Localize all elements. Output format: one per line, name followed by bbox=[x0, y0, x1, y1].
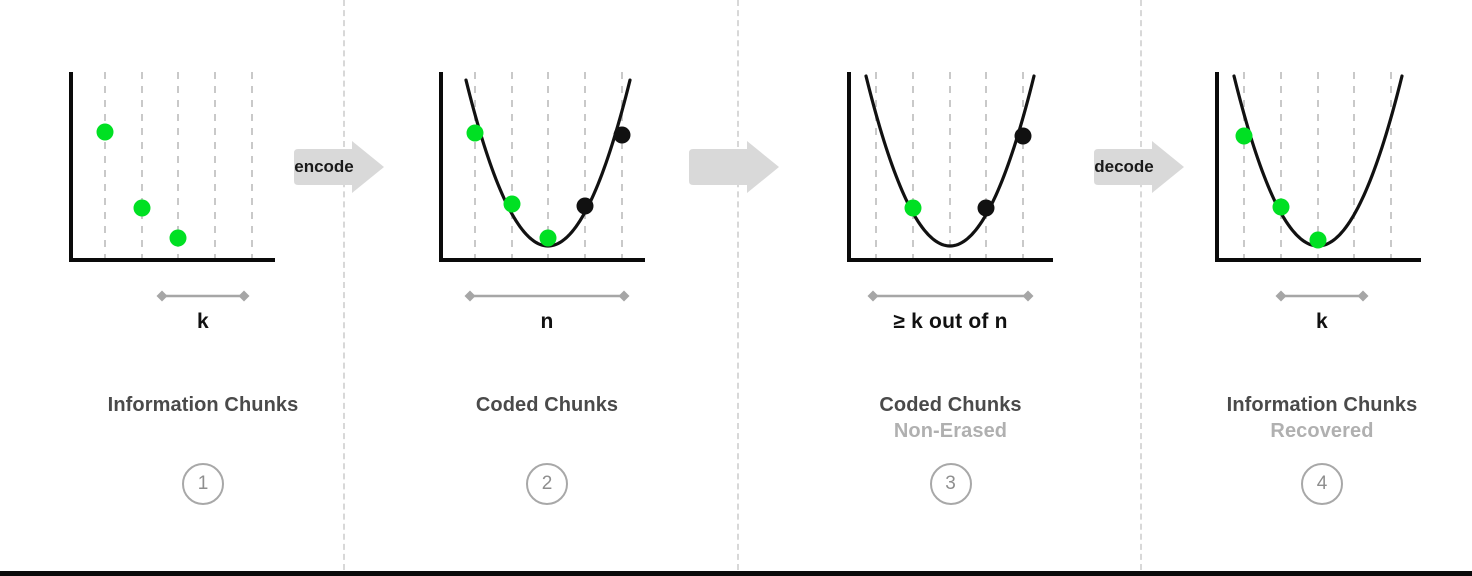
data-point-green bbox=[540, 230, 557, 247]
panel-2: nCoded Chunks2 bbox=[400, 0, 740, 570]
span-endpoint-left bbox=[157, 291, 168, 302]
bottom-rule bbox=[0, 571, 1472, 576]
panel-3-caption-secondary: Non-Erased bbox=[781, 418, 1121, 444]
panel-3-step-badge: 3 bbox=[930, 463, 972, 505]
panel-2-step-badge: 2 bbox=[526, 463, 568, 505]
panel-4-span-measure bbox=[1170, 286, 1472, 306]
panel-2-caption: Coded Chunks bbox=[377, 392, 717, 418]
panel-3-span-label: ≥ k out of n bbox=[781, 310, 1121, 334]
data-point-black bbox=[1015, 128, 1032, 145]
panel-1-caption-primary: Information Chunks bbox=[33, 392, 373, 418]
data-point-green bbox=[1273, 199, 1290, 216]
data-point-green bbox=[170, 230, 187, 247]
panel-4-plot bbox=[1208, 68, 1423, 268]
data-point-black bbox=[978, 200, 995, 217]
panel-3-plot bbox=[840, 68, 1055, 268]
arrow-middle-label bbox=[685, 141, 753, 193]
panel-2-span-measure bbox=[400, 286, 740, 306]
arrow-middle[interactable] bbox=[685, 141, 781, 193]
panel-1-span-label: k bbox=[33, 310, 373, 334]
panel-4-caption: Information ChunksRecovered bbox=[1152, 392, 1472, 445]
diagram-canvas: kInformation Chunks1nCoded Chunks2≥ k ou… bbox=[0, 0, 1472, 576]
data-point-green bbox=[905, 200, 922, 217]
span-endpoint-right bbox=[1023, 291, 1034, 302]
panel-3-caption: Coded ChunksNon-Erased bbox=[781, 392, 1121, 445]
panel-2-span-label: n bbox=[377, 310, 717, 334]
data-point-green bbox=[1236, 128, 1253, 145]
panel-4-caption-secondary: Recovered bbox=[1152, 418, 1472, 444]
panel-4-step-badge: 4 bbox=[1301, 463, 1343, 505]
span-endpoint-right bbox=[619, 291, 630, 302]
arrow-encode[interactable]: encode bbox=[290, 141, 386, 193]
span-endpoint-right bbox=[239, 291, 250, 302]
arrow-decode-label: decode bbox=[1090, 141, 1158, 193]
panel-1-step-badge: 1 bbox=[182, 463, 224, 505]
data-point-green bbox=[97, 124, 114, 141]
data-point-black bbox=[614, 127, 631, 144]
data-point-green bbox=[134, 200, 151, 217]
span-endpoint-left bbox=[1276, 291, 1287, 302]
panel-4: kInformation ChunksRecovered4 bbox=[1170, 0, 1472, 570]
data-point-green bbox=[504, 196, 521, 213]
panel-1-plot bbox=[62, 68, 277, 268]
panel-3-span-measure bbox=[803, 286, 1143, 306]
panel-2-caption-primary: Coded Chunks bbox=[377, 392, 717, 418]
panel-3: ≥ k out of nCoded ChunksNon-Erased3 bbox=[803, 0, 1143, 570]
arrow-decode[interactable]: decode bbox=[1090, 141, 1186, 193]
data-point-green bbox=[467, 125, 484, 142]
panel-3-caption-primary: Coded Chunks bbox=[781, 392, 1121, 418]
panel-1: kInformation Chunks1 bbox=[30, 0, 370, 570]
span-endpoint-left bbox=[465, 291, 476, 302]
span-endpoint-right bbox=[1358, 291, 1369, 302]
panel-1-caption: Information Chunks bbox=[33, 392, 373, 418]
span-endpoint-left bbox=[868, 291, 879, 302]
panel-4-span-label: k bbox=[1152, 310, 1472, 334]
panel-2-plot bbox=[432, 68, 647, 268]
arrow-encode-label: encode bbox=[290, 141, 358, 193]
data-point-black bbox=[577, 198, 594, 215]
panel-1-span-measure bbox=[30, 286, 370, 306]
panel-4-caption-primary: Information Chunks bbox=[1152, 392, 1472, 418]
data-point-green bbox=[1310, 232, 1327, 249]
